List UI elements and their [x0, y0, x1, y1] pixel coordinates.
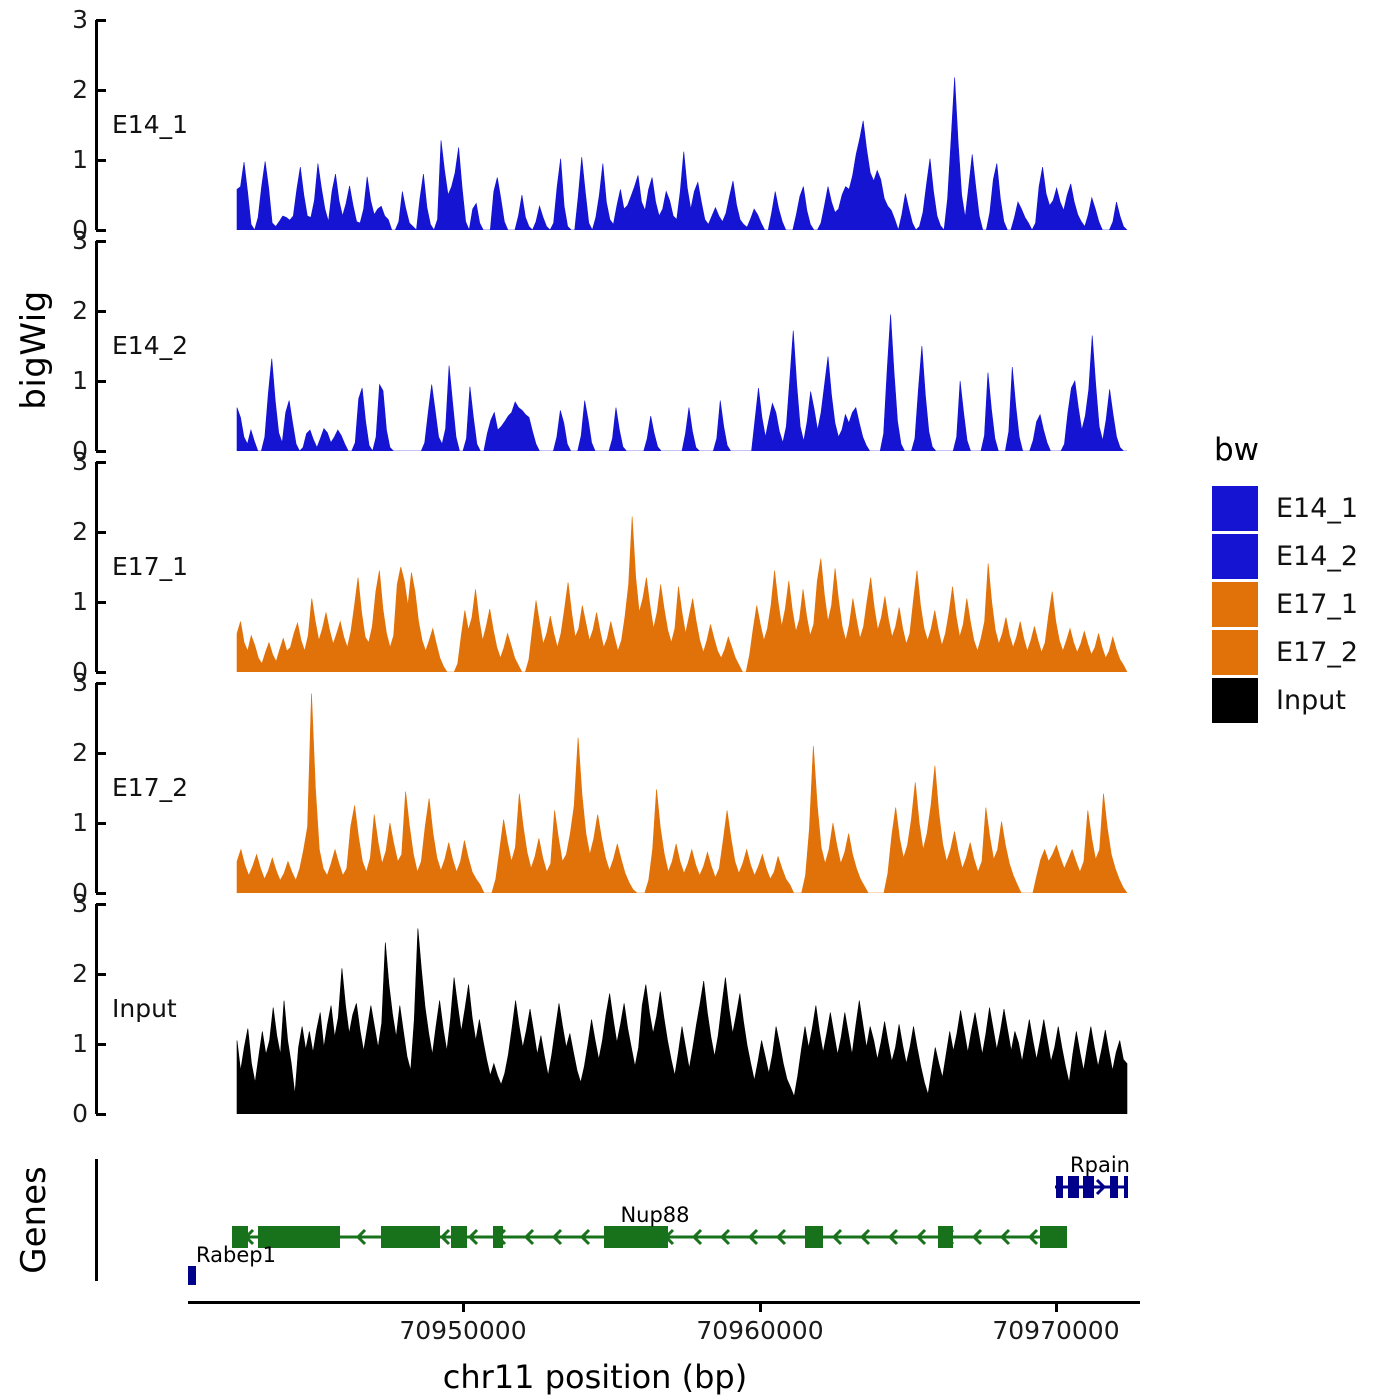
bigwig-panel-e14_2: 3210E14_2: [0, 241, 1180, 451]
legend-item-label: E17_2: [1276, 637, 1358, 668]
genes-panel: RpainNup88Rabep1: [0, 1155, 1400, 1315]
legend-item-e14_1[interactable]: E14_1: [1212, 484, 1392, 532]
y-tick-label: 2: [54, 519, 88, 544]
x-tick: [759, 1301, 762, 1312]
legend-swatch-icon: [1212, 582, 1258, 627]
y-tick-label: 1: [54, 589, 88, 614]
y-tick-label: 3: [54, 670, 88, 695]
y-tick-label: 1: [54, 810, 88, 835]
y-tick-label: 3: [54, 228, 88, 253]
x-axis-title: chr11 position (bp): [0, 1358, 1190, 1396]
svg-text:Rpain: Rpain: [1070, 1155, 1130, 1177]
legend-title: bw: [1214, 432, 1392, 468]
y-tick-label: 0: [54, 1101, 88, 1126]
y-tick-label: 1: [54, 147, 88, 172]
legend-rows: E14_1E14_2E17_1E17_2Input: [1212, 484, 1392, 724]
y-tick-label: 1: [54, 1031, 88, 1056]
svg-text:Rabep1: Rabep1: [196, 1243, 276, 1267]
svg-text:Nup88: Nup88: [620, 1203, 689, 1227]
legend-item-label: Input: [1276, 685, 1346, 716]
x-axis-line: [188, 1301, 1140, 1304]
legend: bw E14_1E14_2E17_1E17_2Input: [1212, 432, 1392, 724]
y-tick-label: 3: [54, 7, 88, 32]
bigwig-panel-e17_2: 3210E17_2: [0, 683, 1180, 893]
signal-track-e17_1: [98, 462, 1153, 672]
y-tick-label: 2: [54, 77, 88, 102]
legend-item-e17_1[interactable]: E17_1: [1212, 580, 1392, 628]
y-tick-label: 3: [54, 449, 88, 474]
x-tick: [462, 1301, 465, 1312]
signal-track-e17_2: [98, 683, 1153, 893]
signal-track-input: [98, 904, 1153, 1114]
x-tick-label: 70950000: [353, 1316, 573, 1345]
y-tick-label: 3: [54, 891, 88, 916]
y-tick-label: 2: [54, 298, 88, 323]
gene-models: RpainNup88Rabep1: [98, 1155, 1153, 1285]
bigwig-panel-e14_1: 3210E14_1: [0, 20, 1180, 230]
x-tick-label: 70960000: [650, 1316, 870, 1345]
bigwig-panel-input: 3210Input: [0, 904, 1180, 1114]
legend-item-input[interactable]: Input: [1212, 676, 1392, 724]
y-tick-label: 1: [54, 368, 88, 393]
legend-swatch-icon: [1212, 678, 1258, 723]
bigwig-panel-e17_1: 3210E17_1: [0, 462, 1180, 672]
legend-item-e14_2[interactable]: E14_2: [1212, 532, 1392, 580]
signal-track-e14_1: [98, 20, 1153, 230]
signal-track-e14_2: [98, 241, 1153, 451]
legend-item-e17_2[interactable]: E17_2: [1212, 628, 1392, 676]
y-tick-label: 2: [54, 961, 88, 986]
legend-item-label: E14_1: [1276, 493, 1358, 524]
legend-swatch-icon: [1212, 534, 1258, 579]
legend-item-label: E14_2: [1276, 541, 1358, 572]
x-tick-label: 70970000: [946, 1316, 1166, 1345]
legend-swatch-icon: [1212, 630, 1258, 675]
legend-item-label: E17_1: [1276, 589, 1358, 620]
legend-swatch-icon: [1212, 486, 1258, 531]
genome-browser-figure: bigWig Genes 3210E14_13210E14_23210E17_1…: [0, 0, 1400, 1400]
y-tick-label: 2: [54, 740, 88, 765]
x-tick: [1055, 1301, 1058, 1312]
